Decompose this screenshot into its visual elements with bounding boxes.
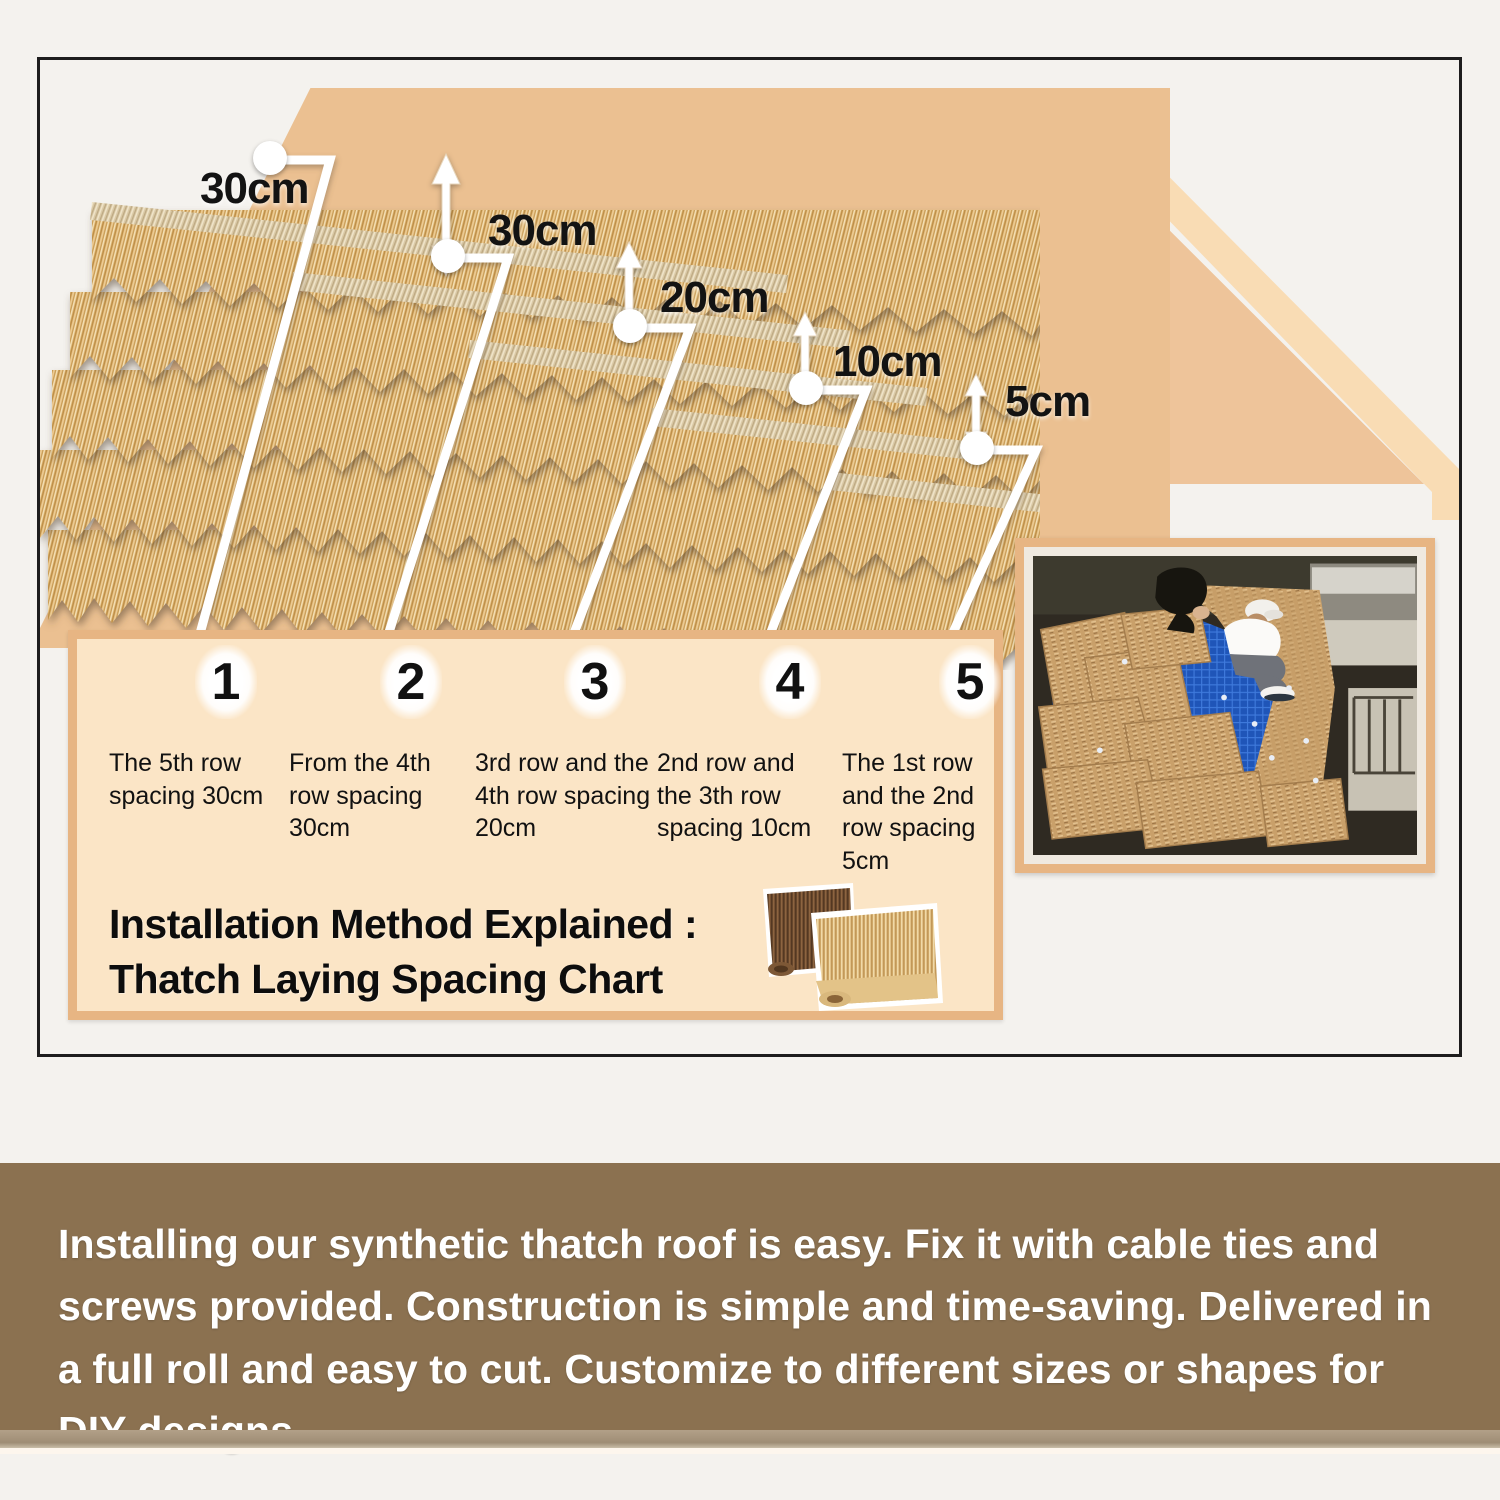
banner-bottom-strip [0,1430,1500,1448]
callout-dot-4 [789,371,823,405]
callout-label-4: 10cm [833,337,942,387]
installation-photo [1033,556,1417,855]
callout-label-1: 30cm [200,164,309,214]
banner-bottom-strip-light [0,1448,1500,1454]
step-badge-5: 5 [939,645,1001,719]
panel-title: Installation Method Explained : Thatch L… [109,897,697,1006]
installation-diagram-frame: 30cm 30cm 20cm 10cm 5cm 1 [37,57,1462,1057]
step-badge-2: 2 [380,645,442,719]
step-badge-1: 1 [195,645,257,719]
step-text-4: 2nd row and the 3th row spacing 10cm [657,747,833,845]
panel-title-line-1: Installation Method Explained : [109,897,697,952]
step-badge-4: 4 [759,645,821,719]
step-badge-3: 3 [564,645,626,719]
banner-text: Installing our synthetic thatch roof is … [58,1213,1438,1462]
thatch-bundle-images [753,877,988,1017]
callout-label-2: 30cm [488,206,597,256]
diagram-stage: 30cm 30cm 20cm 10cm 5cm 1 [40,60,1459,1054]
callout-dot-5 [960,431,994,465]
panel-title-line-2: Thatch Laying Spacing Chart [109,952,697,1007]
instruction-panel: 1 2 3 4 5 The 5th row spacing 30cm From … [68,630,1003,1020]
bundle-light [811,903,943,1011]
installation-photo-frame [1015,538,1435,873]
callout-label-3: 20cm [660,273,769,323]
callout-dot-2 [431,239,465,273]
step-text-1: The 5th row spacing 30cm [109,747,285,812]
callout-label-5: 5cm [1005,377,1090,427]
step-text-2: From the 4th row spacing 30cm [289,747,465,845]
bottom-banner: Installing our synthetic thatch roof is … [0,1163,1500,1430]
step-text-3: 3rd row and the 4th row spacing 20cm [475,747,651,845]
installation-photo-graphic [1033,556,1417,855]
thatch-bundles-graphic [753,877,988,1017]
callout-dot-3 [613,309,647,343]
step-text-5: The 1st row and the 2nd row spacing 5cm [842,747,1018,877]
